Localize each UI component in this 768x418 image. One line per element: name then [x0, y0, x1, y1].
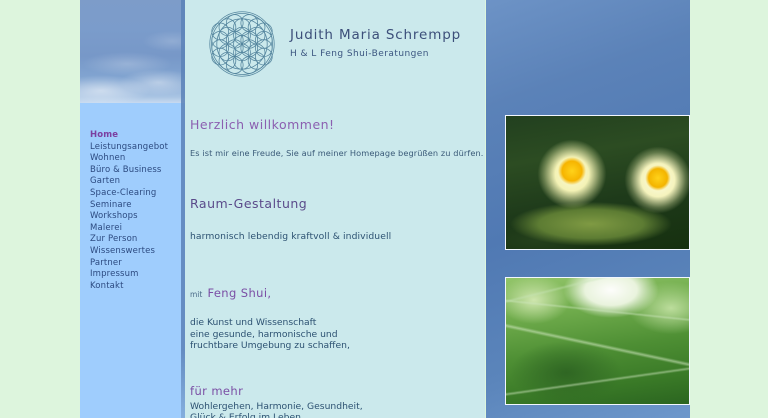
- sidebar-item-zur-person[interactable]: Zur Person: [80, 234, 185, 246]
- sidebar-item-garten[interactable]: Garten: [80, 176, 185, 188]
- sidebar-item-leistungsangebot[interactable]: Leistungsangebot: [80, 142, 185, 154]
- mit-label: mit: [190, 290, 202, 299]
- right-photo-panel: [486, 0, 690, 418]
- sidebar-item-seminare[interactable]: Seminare: [80, 200, 185, 212]
- sidebar-item-wohnen[interactable]: Wohnen: [80, 153, 185, 165]
- site-header: Judith Maria Schrempp H & L Feng Shui-Be…: [185, 0, 485, 88]
- kunst-line-2: eine gesunde, harmonische und: [190, 329, 338, 340]
- brand-block: Judith Maria Schrempp H & L Feng Shui-Be…: [290, 26, 480, 61]
- kunst-paragraph: die Kunst und Wissenschaft eine gesunde,…: [190, 317, 485, 352]
- bamboo-forest-photo: [505, 277, 690, 405]
- content-column: Judith Maria Schrempp H & L Feng Shui-Be…: [185, 0, 485, 418]
- welcome-heading: Herzlich willkommen!: [190, 117, 485, 132]
- welcome-text: Es ist mir eine Freude, Sie auf meiner H…: [190, 148, 485, 158]
- kunst-line-1: die Kunst und Wissenschaft: [190, 317, 316, 328]
- brand-name: Judith Maria Schrempp: [290, 26, 480, 44]
- main-content: Herzlich willkommen! Es ist mir eine Fre…: [185, 88, 485, 418]
- sidebar-item-malerei[interactable]: Malerei: [80, 223, 185, 235]
- main-navigation: Home Leistungsangebot Wohnen Büro & Busi…: [80, 130, 185, 292]
- sidebar-item-workshops[interactable]: Workshops: [80, 211, 185, 223]
- feng-shui-line: mit Feng Shui,: [190, 282, 485, 301]
- fuer-mehr-paragraph: Wohlergehen, Harmonie, Gesundheit, Glück…: [190, 401, 485, 418]
- sidebar-item-impressum[interactable]: Impressum: [80, 269, 185, 281]
- sidebar-item-space-clearing[interactable]: Space-Clearing: [80, 188, 185, 200]
- sidebar-item-kontakt[interactable]: Kontakt: [80, 281, 185, 293]
- fuer-mehr-line-2: Glück & Erfolg im Leben.: [190, 412, 304, 418]
- sidebar-item-partner[interactable]: Partner: [80, 258, 185, 270]
- raum-subtitle: harmonisch lebendig kraftvoll & individu…: [190, 231, 485, 242]
- sidebar-item-buero-business[interactable]: Büro & Business: [80, 165, 185, 177]
- sky-clouds-photo: [80, 0, 185, 103]
- brand-subtitle: H & L Feng Shui-Beratungen: [290, 47, 480, 61]
- sidebar-item-wissenswertes[interactable]: Wissenswertes: [80, 246, 185, 258]
- fuer-mehr-line-1: Wohlergehen, Harmonie, Gesundheit,: [190, 401, 363, 412]
- flower-of-life-icon: [207, 9, 277, 79]
- water-lily-photo: [505, 115, 690, 250]
- raum-heading: Raum-Gestaltung: [190, 196, 485, 211]
- sidebar-item-home[interactable]: Home: [80, 130, 185, 142]
- kunst-line-3: fruchtbare Umgebung zu schaffen,: [190, 340, 350, 351]
- page-right-margin: [690, 0, 768, 418]
- fuer-mehr-heading: für mehr: [190, 384, 485, 398]
- sidebar: Home Leistungsangebot Wohnen Büro & Busi…: [80, 0, 185, 418]
- feng-shui-label: Feng Shui,: [207, 286, 271, 300]
